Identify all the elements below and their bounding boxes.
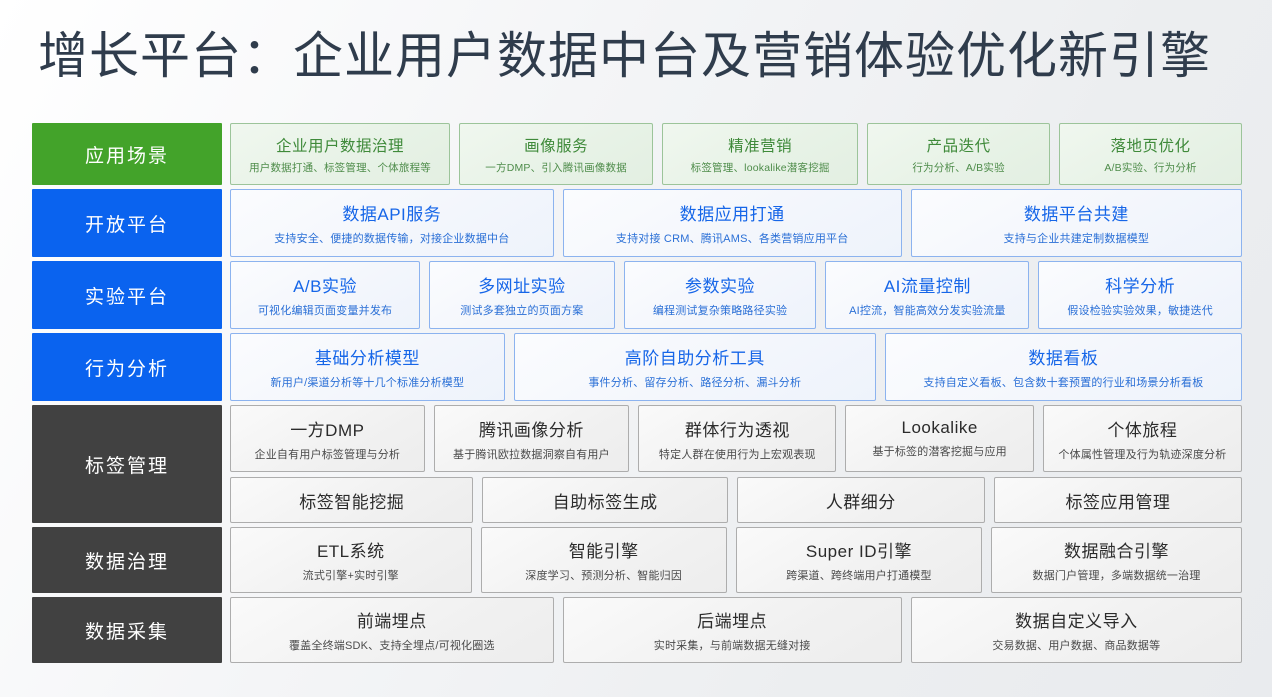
card-subtitle: A/B实验、行为分析 bbox=[1104, 160, 1196, 175]
row-cards: 一方DMP企业自有用户标签管理与分析腾讯画像分析基于腾讯欧拉数据洞察自有用户群体… bbox=[230, 405, 1242, 523]
card-subtitle: AI控流，智能高效分发实验流量 bbox=[849, 302, 1005, 318]
card-subtitle: 假设检验实验效果，敏捷迭代 bbox=[1067, 302, 1213, 318]
capability-card[interactable]: 智能引擎深度学习、预测分析、智能归因 bbox=[481, 527, 727, 593]
row-label-1[interactable]: 开放平台 bbox=[32, 189, 222, 257]
card-title: 精准营销 bbox=[728, 134, 792, 156]
capability-card[interactable]: ETL系统流式引擎+实时引擎 bbox=[230, 527, 472, 593]
capability-card[interactable]: 后端埋点实时采集，与前端数据无缝对接 bbox=[563, 597, 902, 663]
row-label-6[interactable]: 数据采集 bbox=[32, 597, 222, 663]
capability-card[interactable]: Lookalike基于标签的潜客挖掘与应用 bbox=[845, 405, 1033, 472]
card-title: 标签应用管理 bbox=[1065, 488, 1170, 513]
card-title: Lookalike bbox=[901, 418, 977, 438]
capability-card[interactable]: 基础分析模型新用户/渠道分析等十几个标准分析模型 bbox=[230, 333, 505, 401]
capability-card[interactable]: 群体行为透视特定人群在使用行为上宏观表现 bbox=[638, 405, 836, 472]
card-title: 参数实验 bbox=[685, 272, 755, 297]
capability-card[interactable]: 自助标签生成 bbox=[482, 477, 727, 523]
capability-card[interactable]: 人群细分 bbox=[737, 477, 985, 523]
card-title: 产品迭代 bbox=[927, 134, 991, 156]
capability-card[interactable]: 数据应用打通支持对接 CRM、腾讯AMS、各类营销应用平台 bbox=[563, 189, 902, 257]
card-title: 自助标签生成 bbox=[553, 488, 658, 513]
capability-card[interactable]: 标签智能挖掘 bbox=[230, 477, 473, 523]
capability-card[interactable]: 个体旅程个体属性管理及行为轨迹深度分析 bbox=[1043, 405, 1242, 472]
card-title: 数据平台共建 bbox=[1024, 200, 1129, 225]
row-cards: A/B实验可视化编辑页面变量并发布多网址实验测试多套独立的页面方案参数实验编程测… bbox=[230, 261, 1242, 329]
card-title: ETL系统 bbox=[317, 537, 385, 562]
card-subtitle: 新用户/渠道分析等十几个标准分析模型 bbox=[271, 374, 465, 390]
matrix-row: 数据治理ETL系统流式引擎+实时引擎智能引擎深度学习、预测分析、智能归因Supe… bbox=[32, 527, 1242, 593]
capability-card[interactable]: 精准营销标签管理、lookalike潜客挖掘 bbox=[662, 123, 858, 185]
card-title: Super ID引擎 bbox=[806, 537, 912, 562]
matrix-row: 数据采集前端埋点覆盖全终端SDK、支持全埋点/可视化圈选后端埋点实时采集，与前端… bbox=[32, 597, 1242, 663]
card-subtitle: 流式引擎+实时引擎 bbox=[303, 567, 399, 583]
card-title: 数据融合引擎 bbox=[1064, 537, 1169, 562]
card-title: 落地页优化 bbox=[1111, 134, 1191, 156]
capability-card[interactable]: 数据API服务支持安全、便捷的数据传输，对接企业数据中台 bbox=[230, 189, 554, 257]
card-subrow: 标签智能挖掘自助标签生成人群细分标签应用管理 bbox=[230, 477, 1242, 523]
card-subtitle: 测试多套独立的页面方案 bbox=[460, 302, 583, 318]
card-title: 数据应用打通 bbox=[680, 200, 785, 225]
card-title: 人群细分 bbox=[826, 488, 896, 513]
card-title: 企业用户数据治理 bbox=[276, 134, 404, 156]
card-subtitle: 支持与企业共建定制数据模型 bbox=[1004, 230, 1150, 246]
card-title: 数据自定义导入 bbox=[1015, 607, 1138, 632]
card-title: 高阶自助分析工具 bbox=[625, 344, 765, 369]
card-title: 智能引擎 bbox=[569, 537, 639, 562]
card-title: AI流量控制 bbox=[884, 272, 971, 297]
card-subtitle: 事件分析、留存分析、路径分析、漏斗分析 bbox=[588, 374, 801, 390]
card-title: 多网址实验 bbox=[478, 272, 566, 297]
card-subtitle: 数据门户管理，多端数据统一治理 bbox=[1033, 567, 1201, 583]
capability-card[interactable]: AI流量控制AI控流，智能高效分发实验流量 bbox=[825, 261, 1029, 329]
capability-card[interactable]: 腾讯画像分析基于腾讯欧拉数据洞察自有用户 bbox=[434, 405, 630, 472]
matrix-row: 开放平台数据API服务支持安全、便捷的数据传输，对接企业数据中台数据应用打通支持… bbox=[32, 189, 1242, 257]
page-title: 增长平台：企业用户数据中台及营销体验优化新引擎 bbox=[38, 18, 1272, 94]
card-subtitle: 一方DMP、引入腾讯画像数据 bbox=[485, 160, 627, 175]
card-title: 一方DMP bbox=[290, 416, 364, 441]
capability-card[interactable]: 高阶自助分析工具事件分析、留存分析、路径分析、漏斗分析 bbox=[514, 333, 876, 401]
row-label-5[interactable]: 数据治理 bbox=[32, 527, 222, 593]
card-title: 数据API服务 bbox=[342, 200, 441, 225]
card-title: 基础分析模型 bbox=[315, 344, 420, 369]
matrix-row: 实验平台A/B实验可视化编辑页面变量并发布多网址实验测试多套独立的页面方案参数实… bbox=[32, 261, 1242, 329]
row-label-0[interactable]: 应用场景 bbox=[32, 123, 222, 185]
card-title: 数据看板 bbox=[1028, 344, 1098, 369]
capability-card[interactable]: 参数实验编程测试复杂策略路径实验 bbox=[624, 261, 817, 329]
card-title: 科学分析 bbox=[1105, 272, 1175, 297]
card-subtitle: 深度学习、预测分析、智能归因 bbox=[525, 567, 682, 583]
row-label-4[interactable]: 标签管理 bbox=[32, 405, 222, 523]
capability-card[interactable]: 产品迭代行为分析、A/B实验 bbox=[867, 123, 1050, 185]
row-cards: 前端埋点覆盖全终端SDK、支持全埋点/可视化圈选后端埋点实时采集，与前端数据无缝… bbox=[230, 597, 1242, 663]
row-cards: ETL系统流式引擎+实时引擎智能引擎深度学习、预测分析、智能归因Super ID… bbox=[230, 527, 1242, 593]
row-cards: 基础分析模型新用户/渠道分析等十几个标准分析模型高阶自助分析工具事件分析、留存分… bbox=[230, 333, 1242, 401]
card-title: A/B实验 bbox=[293, 272, 357, 297]
card-subtitle: 可视化编辑页面变量并发布 bbox=[258, 302, 392, 318]
card-subtitle: 个体属性管理及行为轨迹深度分析 bbox=[1058, 446, 1226, 462]
capability-matrix: 应用场景企业用户数据治理用户数据打通、标签管理、个体旅程等画像服务一方DMP、引… bbox=[32, 123, 1242, 695]
card-subtitle: 基于腾讯欧拉数据洞察自有用户 bbox=[453, 446, 610, 462]
card-title: 标签智能挖掘 bbox=[299, 488, 404, 513]
row-label-2[interactable]: 实验平台 bbox=[32, 261, 222, 329]
capability-card[interactable]: 前端埋点覆盖全终端SDK、支持全埋点/可视化圈选 bbox=[230, 597, 554, 663]
capability-card[interactable]: 数据平台共建支持与企业共建定制数据模型 bbox=[911, 189, 1242, 257]
card-subtitle: 用户数据打通、标签管理、个体旅程等 bbox=[249, 160, 431, 175]
card-subtitle: 跨渠道、跨终端用户打通模型 bbox=[786, 567, 932, 583]
card-subtitle: 支持对接 CRM、腾讯AMS、各类营销应用平台 bbox=[616, 230, 849, 246]
capability-card[interactable]: 数据看板支持自定义看板、包含数十套预置的行业和场景分析看板 bbox=[885, 333, 1242, 401]
card-subtitle: 标签管理、lookalike潜客挖掘 bbox=[691, 160, 830, 175]
card-title: 个体旅程 bbox=[1107, 416, 1177, 441]
card-subtitle: 特定人群在使用行为上宏观表现 bbox=[659, 446, 816, 462]
capability-card[interactable]: 企业用户数据治理用户数据打通、标签管理、个体旅程等 bbox=[230, 123, 450, 185]
row-cards: 数据API服务支持安全、便捷的数据传输，对接企业数据中台数据应用打通支持对接 C… bbox=[230, 189, 1242, 257]
card-title: 画像服务 bbox=[524, 134, 588, 156]
row-label-3[interactable]: 行为分析 bbox=[32, 333, 222, 401]
capability-card[interactable]: 数据自定义导入交易数据、用户数据、商品数据等 bbox=[911, 597, 1242, 663]
card-subtitle: 企业自有用户标签管理与分析 bbox=[255, 446, 401, 462]
row-cards: 企业用户数据治理用户数据打通、标签管理、个体旅程等画像服务一方DMP、引入腾讯画… bbox=[230, 123, 1242, 185]
card-subtitle: 支持安全、便捷的数据传输，对接企业数据中台 bbox=[274, 230, 509, 246]
card-subrow: 一方DMP企业自有用户标签管理与分析腾讯画像分析基于腾讯欧拉数据洞察自有用户群体… bbox=[230, 405, 1242, 472]
matrix-row: 行为分析基础分析模型新用户/渠道分析等十几个标准分析模型高阶自助分析工具事件分析… bbox=[32, 333, 1242, 401]
capability-card[interactable]: 科学分析假设检验实验效果，敏捷迭代 bbox=[1038, 261, 1242, 329]
card-title: 后端埋点 bbox=[697, 607, 767, 632]
card-subtitle: 覆盖全终端SDK、支持全埋点/可视化圈选 bbox=[289, 637, 495, 653]
capability-card[interactable]: 多网址实验测试多套独立的页面方案 bbox=[429, 261, 615, 329]
card-subtitle: 实时采集，与前端数据无缝对接 bbox=[654, 637, 811, 653]
capability-card[interactable]: 一方DMP企业自有用户标签管理与分析 bbox=[230, 405, 425, 472]
card-subtitle: 行为分析、A/B实验 bbox=[912, 160, 1004, 175]
card-subtitle: 交易数据、用户数据、商品数据等 bbox=[992, 637, 1160, 653]
capability-card[interactable]: 数据融合引擎数据门户管理，多端数据统一治理 bbox=[991, 527, 1242, 593]
card-subtitle: 基于标签的潜客挖掘与应用 bbox=[872, 443, 1006, 459]
matrix-row: 应用场景企业用户数据治理用户数据打通、标签管理、个体旅程等画像服务一方DMP、引… bbox=[32, 123, 1242, 185]
card-title: 群体行为透视 bbox=[685, 416, 790, 441]
capability-card[interactable]: A/B实验可视化编辑页面变量并发布 bbox=[230, 261, 420, 329]
card-title: 腾讯画像分析 bbox=[479, 416, 584, 441]
capability-card[interactable]: 落地页优化A/B实验、行为分析 bbox=[1059, 123, 1242, 185]
capability-card[interactable]: 画像服务一方DMP、引入腾讯画像数据 bbox=[459, 123, 653, 185]
card-subtitle: 编程测试复杂策略路径实验 bbox=[653, 302, 787, 318]
card-title: 前端埋点 bbox=[357, 607, 427, 632]
capability-card[interactable]: Super ID引擎跨渠道、跨终端用户打通模型 bbox=[736, 527, 982, 593]
capability-card[interactable]: 标签应用管理 bbox=[994, 477, 1242, 523]
card-subtitle: 支持自定义看板、包含数十套预置的行业和场景分析看板 bbox=[923, 374, 1203, 390]
matrix-row: 标签管理一方DMP企业自有用户标签管理与分析腾讯画像分析基于腾讯欧拉数据洞察自有… bbox=[32, 405, 1242, 523]
